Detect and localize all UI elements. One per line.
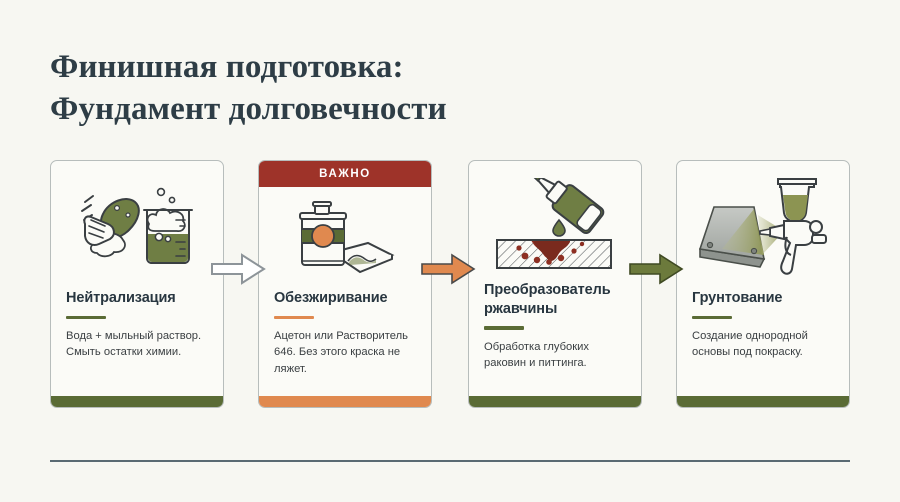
card-text: Обезжиривание Ацетон или Растворитель 64…	[274, 289, 418, 377]
dropper-bottle-rust-plate-icon	[469, 171, 641, 281]
card-description: Ацетон или Растворитель 646. Без этого к…	[274, 328, 418, 377]
card-heading: Грунтование	[692, 289, 836, 308]
accent-bar	[484, 326, 524, 330]
flow-arrow-1	[210, 252, 266, 286]
card-text: Нейтрализация Вода + мыльный раствор. См…	[66, 289, 210, 361]
card-heading: Преобразователь ржавчины	[484, 281, 628, 318]
card-description: Вода + мыльный раствор. Смыть остатки хи…	[66, 328, 210, 360]
spray-gun-panel-icon	[677, 171, 849, 281]
card-text: Преобразователь ржавчины Обработка глубо…	[484, 281, 628, 371]
card-description: Создание однородной основы под покраску.	[692, 328, 836, 360]
card-bottom-bar	[469, 396, 641, 407]
step-card-priming[interactable]: Грунтование Создание однородной основы п…	[676, 160, 850, 408]
slide-root: Финишная подготовка: Фундамент долговечн…	[0, 0, 900, 502]
card-bottom-bar	[677, 396, 849, 407]
card-bottom-bar	[259, 396, 431, 407]
solvent-can-cloth-icon	[259, 191, 431, 286]
accent-bar	[692, 316, 732, 320]
flow-arrow-3	[628, 252, 684, 286]
step-card-rust-converter[interactable]: Преобразователь ржавчины Обработка глубо…	[468, 160, 642, 408]
step-card-degreasing[interactable]: ВАЖНО	[258, 160, 432, 408]
card-description: Обработка глубоких раковин и питтинга.	[484, 339, 628, 371]
flow-arrow-2	[420, 252, 476, 286]
card-bottom-bar	[51, 396, 223, 407]
page-title: Финишная подготовка: Фундамент долговечн…	[50, 46, 447, 130]
sponge-beaker-icon	[51, 171, 223, 281]
card-heading: Обезжиривание	[274, 289, 418, 308]
card-heading: Нейтрализация	[66, 289, 210, 308]
step-card-neutralization[interactable]: Нейтрализация Вода + мыльный раствор. См…	[50, 160, 224, 408]
status-badge: ВАЖНО	[259, 161, 431, 187]
accent-bar	[66, 316, 106, 320]
card-text: Грунтование Создание однородной основы п…	[692, 289, 836, 361]
footer-divider	[50, 460, 850, 462]
accent-bar	[274, 316, 314, 320]
